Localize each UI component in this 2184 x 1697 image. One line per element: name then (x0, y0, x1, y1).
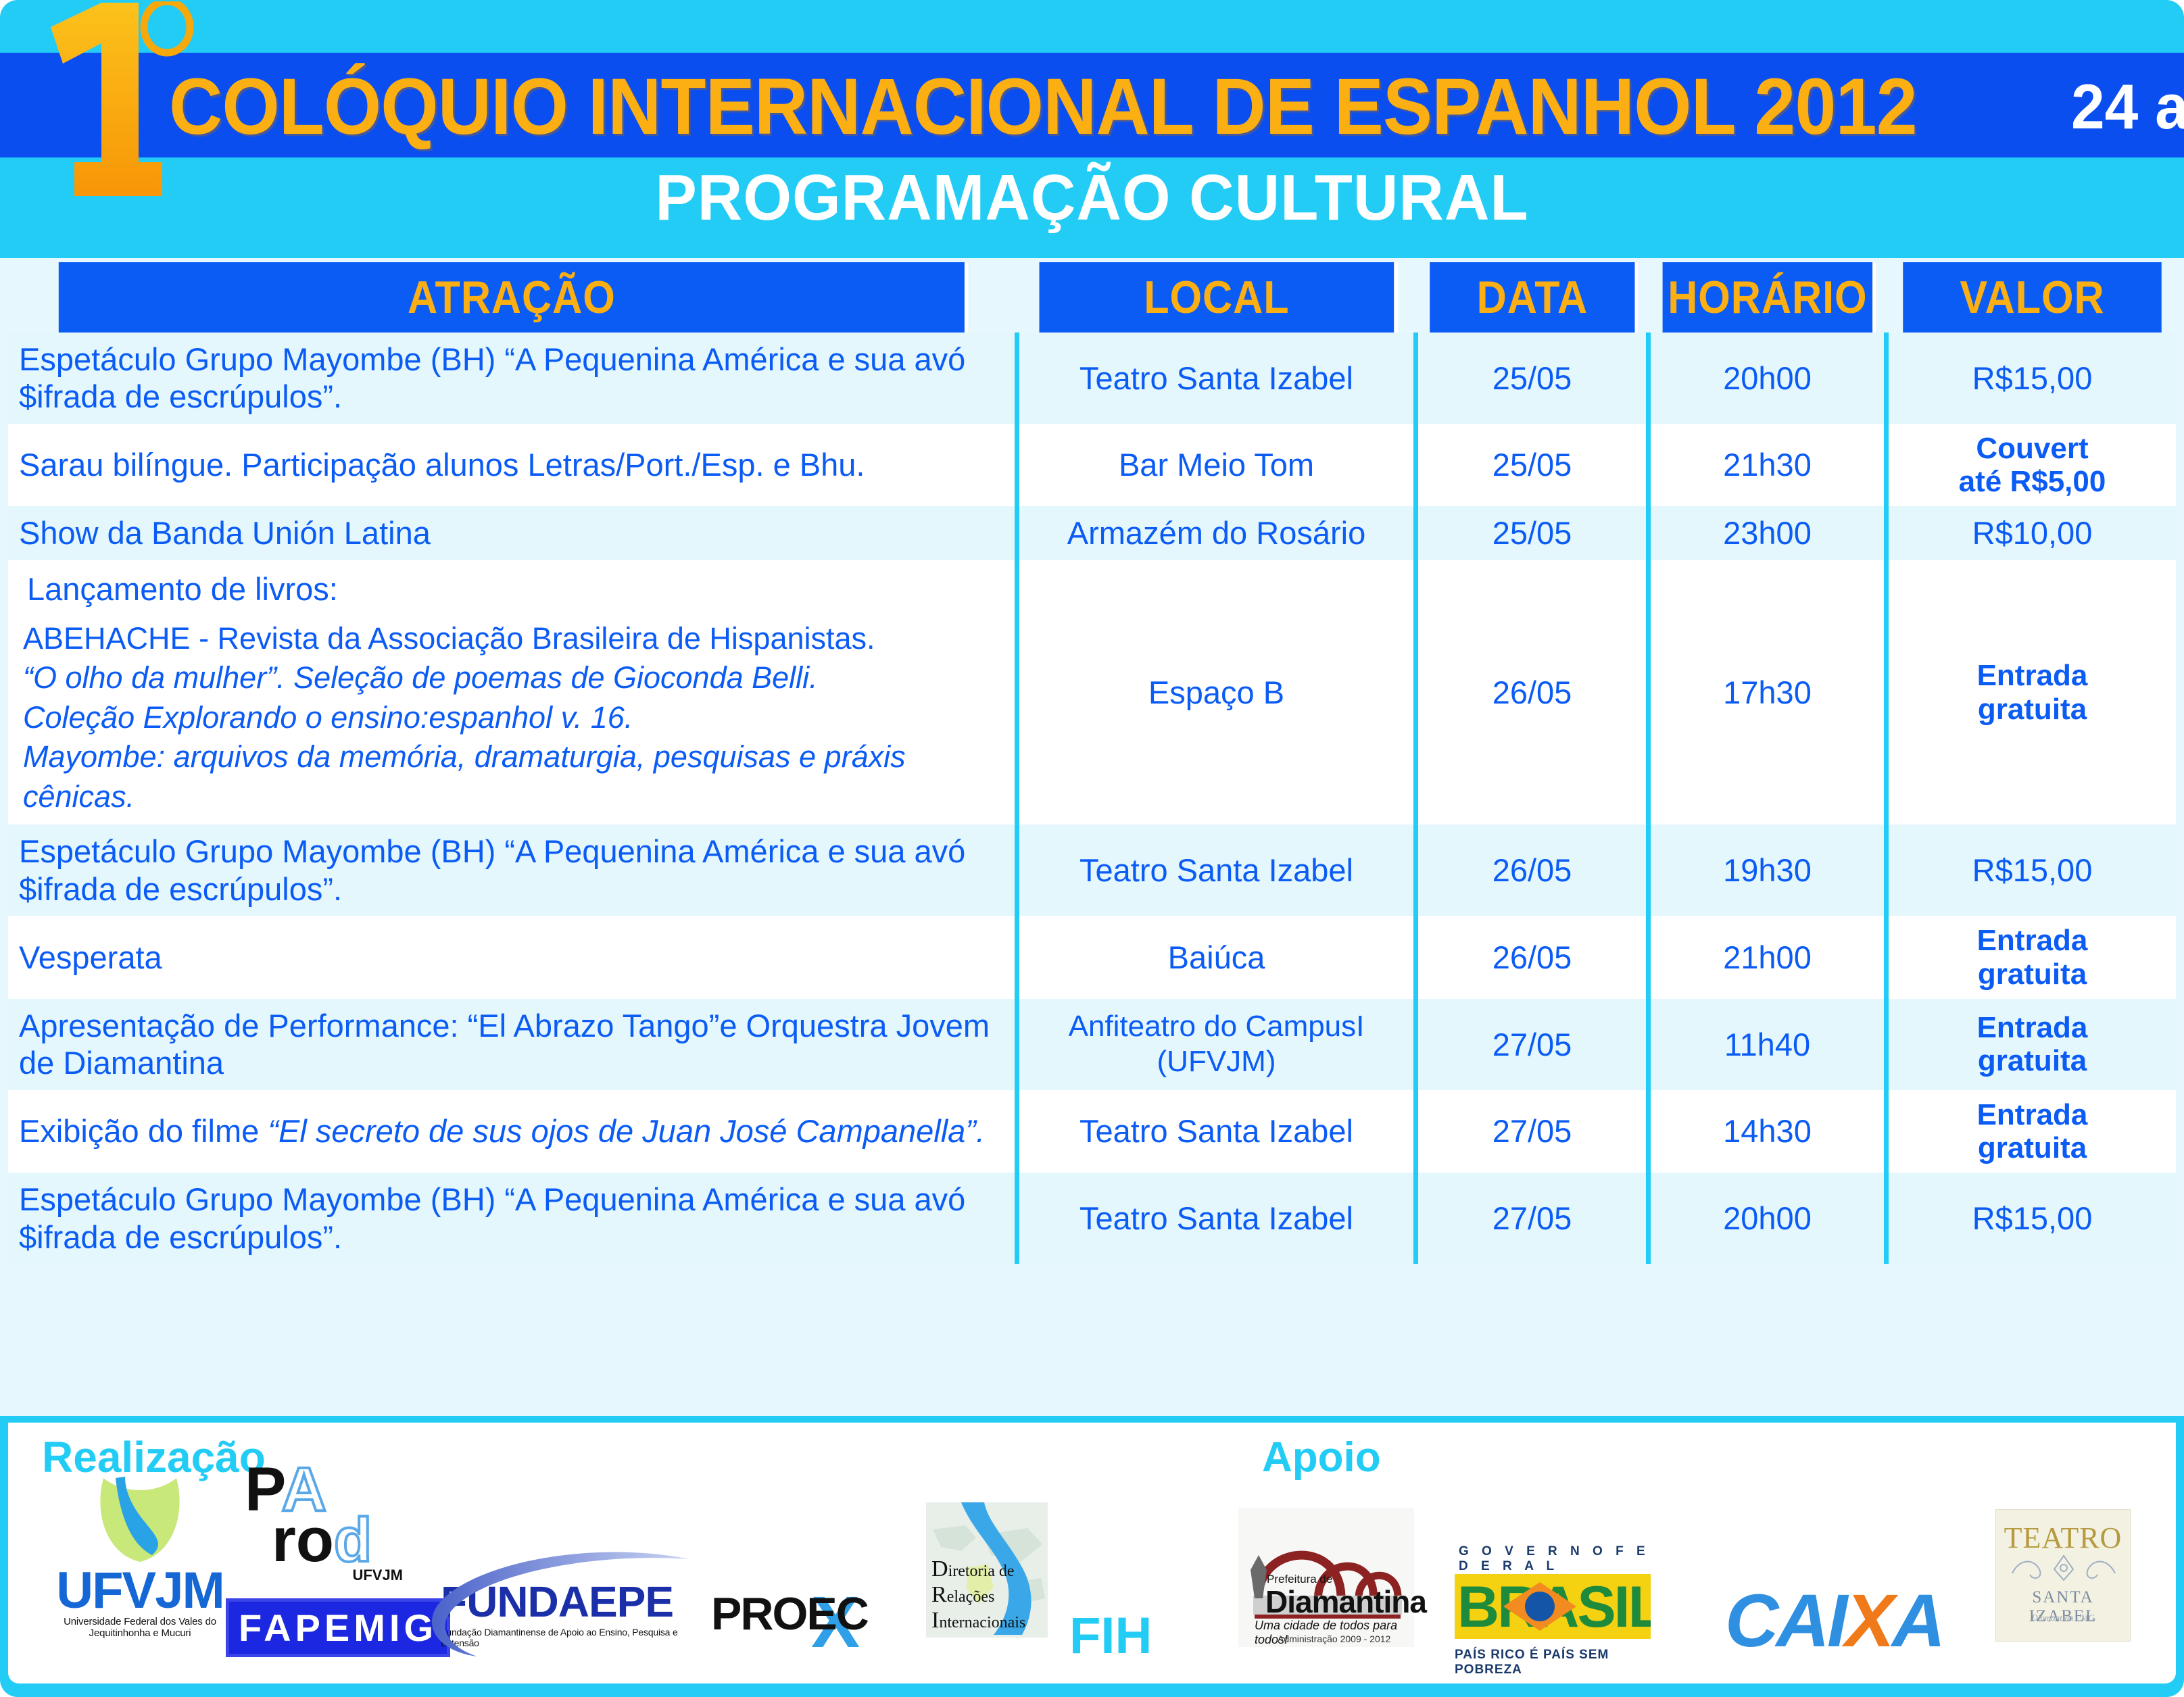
poster-footer: Realização Apoio UFVJM Universidade Fede… (0, 1416, 2184, 1697)
logo-ufvjm: UFVJM Universidade Federal dos Vales do … (49, 1474, 231, 1639)
proad-wordmark-2: rod (272, 1515, 407, 1566)
valor-line-2: gratuita (1898, 958, 2166, 991)
table-header: ATRAÇÃO LOCAL DATA HORÁRIO VALOR (8, 262, 2176, 333)
table-row: Vesperata Baiúca 26/05 21h00 Entrada gra… (8, 916, 2176, 999)
cell-valor: Entrada gratuita (1889, 560, 2176, 825)
cell-local: Teatro Santa Izabel (1019, 1173, 1418, 1264)
cell-data: 27/05 (1418, 1090, 1651, 1173)
schedule-table: ATRAÇÃO LOCAL DATA HORÁRIO VALOR Espetác… (8, 262, 2176, 1264)
page-subtitle: PROGRAMAÇÃO CULTURAL (44, 161, 2141, 235)
cell-data: 25/05 (1418, 333, 1651, 424)
proexc-wordmark: PROE (711, 1588, 836, 1640)
diamantina-admin: Administração 2009 - 2012 (1278, 1633, 1390, 1644)
cell-local: Bar Meio Tom (1019, 424, 1418, 507)
table-row: Espetáculo Grupo Mayombe (BH) “A Pequeni… (8, 333, 2176, 424)
ufvjm-wordmark: UFVJM (49, 1567, 231, 1615)
cell-data: 26/05 (1418, 560, 1651, 825)
ordinal-number-one-icon (37, 1, 226, 204)
poster-header: COLÓQUIO INTERNACIONAL DE ESPANHOL 2012 … (0, 0, 2184, 258)
cell-valor: R$15,00 (1889, 825, 2176, 916)
column-header-local: LOCAL (1040, 262, 1399, 333)
cell-local: Teatro Santa Izabel (1019, 1090, 1418, 1173)
table-header-row: ATRAÇÃO LOCAL DATA HORÁRIO VALOR (8, 262, 2176, 333)
book-launch-heading: Lançamento de livros: (19, 568, 1005, 610)
table-row: Exibição do filme “El secreto de sus ojo… (8, 1090, 2176, 1173)
dri-line-2: Relações (931, 1582, 1025, 1608)
cell-local: Espaço B (1019, 560, 1418, 825)
logo-prefeitura-diamantina: Prefeitura de Diamantina Uma cidade de t… (1238, 1508, 1414, 1647)
cell-atracao: Apresentação de Performance: “El Abrazo … (8, 999, 1019, 1090)
cell-horario: 23h00 (1651, 506, 1889, 560)
local-line-2: (UFVJM) (1029, 1044, 1404, 1079)
table-row: Espetáculo Grupo Mayombe (BH) “A Pequeni… (8, 1173, 2176, 1264)
film-title: “El secreto de sus ojos de Juan José Cam… (268, 1113, 985, 1149)
cell-horario: 21h30 (1651, 424, 1889, 507)
cell-data: 26/05 (1418, 916, 1651, 999)
cell-valor: Couvert até R$5,00 (1889, 424, 2176, 507)
cell-valor: Entrada gratuita (1889, 1090, 2176, 1173)
cell-atracao: Espetáculo Grupo Mayombe (BH) “A Pequeni… (8, 333, 1019, 424)
cell-atracao: Sarau bilíngue. Participação alunos Letr… (8, 424, 1019, 507)
cell-data: 27/05 (1418, 999, 1651, 1090)
footer-logo-area: Realização Apoio UFVJM Universidade Fede… (8, 1423, 2176, 1683)
cell-data: 25/05 (1418, 506, 1651, 560)
cell-horario: 19h30 (1651, 825, 1889, 916)
logo-proexc: PROEC X (711, 1588, 887, 1640)
cell-horario: 17h30 (1651, 560, 1889, 825)
table-row: Sarau bilíngue. Participação alunos Letr… (8, 424, 2176, 507)
local-line-1: Anfiteatro do CampusI (1029, 1009, 1404, 1044)
cell-data: 25/05 (1418, 424, 1651, 507)
page-title: COLÓQUIO INTERNACIONAL DE ESPANHOL 2012 (169, 61, 1917, 153)
cell-atracao: Exibição do filme “El secreto de sus ojo… (8, 1090, 1019, 1173)
poster: COLÓQUIO INTERNACIONAL DE ESPANHOL 2012 … (0, 0, 2184, 1697)
cell-atracao: Show da Banda Unión Latina (8, 506, 1019, 560)
apoio-label: Apoio (1262, 1433, 1381, 1481)
table-row: Apresentação de Performance: “El Abrazo … (8, 999, 2176, 1090)
cell-valor: Entrada gratuita (1889, 999, 2176, 1090)
table-row: Espetáculo Grupo Mayombe (BH) “A Pequeni… (8, 825, 2176, 916)
cell-local: Baiúca (1019, 916, 1418, 999)
diamantina-wordmark: Diamantina (1265, 1583, 1426, 1620)
dri-line-3: Internacionais (931, 1608, 1025, 1633)
book-item: Mayombe: arquivos da memória, dramaturgi… (19, 737, 1005, 816)
caixa-a: A (1892, 1579, 1943, 1663)
cell-local: Anfiteatro do CampusI (UFVJM) (1019, 999, 1418, 1090)
valor-line-2: até R$5,00 (1898, 465, 2166, 498)
cell-data: 26/05 (1418, 825, 1651, 916)
logo-fundaepe: FUNDAEPE Fundação Diamantinense de Apoio… (441, 1577, 684, 1648)
table-body: Espetáculo Grupo Mayombe (BH) “A Pequeni… (8, 333, 2176, 1264)
ufvjm-tagline: Universidade Federal dos Vales do Jequit… (49, 1616, 231, 1639)
logo-relacoes-internacionais: Diretoria de Relações Internacionais (926, 1502, 1048, 1638)
cell-atracao: Espetáculo Grupo Mayombe (BH) “A Pequeni… (8, 1173, 1019, 1264)
cell-horario: 20h00 (1651, 333, 1889, 424)
valor-line-2: gratuita (1898, 693, 2166, 726)
event-dates: 24 a 27 de maio (2071, 70, 2184, 143)
cell-local: Armazém do Rosário (1019, 506, 1418, 560)
book-item: Coleção Explorando o ensino:espanhol v. … (19, 698, 1005, 738)
logo-caixa: CAIXA (1725, 1578, 1943, 1664)
cell-valor: R$15,00 (1889, 333, 2176, 424)
brasil-wordmark: BRASIL (1455, 1574, 1651, 1648)
valor-line-1: Entrada (1898, 659, 2166, 692)
film-label: Exibição do filme (19, 1113, 268, 1149)
brasil-governo-label: G O V E R N O F E D E R A L (1459, 1544, 1651, 1574)
teatro-ornament-icon (1996, 1546, 2131, 1587)
cell-horario: 14h30 (1651, 1090, 1889, 1173)
cell-horario: 21h00 (1651, 916, 1889, 999)
logo-governo-brasil: G O V E R N O F E D E R A L BRASIL PAÍS … (1455, 1544, 1651, 1677)
logo-proad: PA rod UFVJM (245, 1465, 407, 1584)
valor-line-1: Couvert (1898, 432, 2166, 465)
table-row: Show da Banda Unión Latina Armazém do Ro… (8, 506, 2176, 560)
cell-horario: 20h00 (1651, 1173, 1889, 1264)
logo-fih: FIH (1069, 1606, 1152, 1665)
valor-line-1: Entrada (1898, 924, 2166, 957)
cell-atracao: Espetáculo Grupo Mayombe (BH) “A Pequeni… (8, 825, 1019, 916)
valor-line-2: gratuita (1898, 1131, 2166, 1164)
proad-d: d (334, 1506, 372, 1575)
valor-line-1: Entrada (1898, 1098, 2166, 1131)
proad-ro: ro (272, 1506, 334, 1575)
column-header-horario: HORÁRIO (1663, 262, 1877, 333)
dri-line-1: Diretoria de (931, 1556, 1025, 1582)
ufvjm-leaf-icon (86, 1474, 194, 1566)
brasil-slogan: PAÍS RICO É PAÍS SEM POBREZA (1455, 1648, 1651, 1677)
column-header-atracao: ATRAÇÃO (59, 262, 969, 333)
cell-valor: R$15,00 (1889, 1173, 2176, 1264)
cell-local: Teatro Santa Izabel (1019, 825, 1418, 916)
cell-valor: R$10,00 (1889, 506, 2176, 560)
caixa-x-icon: X (1845, 1579, 1891, 1663)
fundaepe-swoosh-icon (419, 1546, 703, 1661)
proexc-c: C (836, 1588, 868, 1640)
book-item: “O olho da mulher”. Seleção de poemas de… (19, 658, 1005, 698)
caixa-cai: CAI (1725, 1579, 1845, 1663)
cell-data: 27/05 (1418, 1173, 1651, 1264)
header-title-row: COLÓQUIO INTERNACIONAL DE ESPANHOL 2012 … (169, 59, 2184, 154)
cell-local: Teatro Santa Izabel (1019, 333, 1418, 424)
table-row: Lançamento de livros: ABEHACHE - Revista… (8, 560, 2176, 825)
cell-atracao: Vesperata (8, 916, 1019, 999)
valor-line-2: gratuita (1898, 1044, 2166, 1077)
teatro-city: Diamantina - MG (1996, 1613, 2130, 1623)
brasil-flag-icon: BRASIL (1455, 1574, 1651, 1639)
book-item: ABEHACHE - Revista da Associação Brasile… (19, 619, 1005, 659)
cell-horario: 11h40 (1651, 999, 1889, 1090)
cell-atracao: Lançamento de livros: ABEHACHE - Revista… (8, 560, 1019, 825)
column-header-valor: VALOR (1903, 262, 2162, 333)
column-header-data: DATA (1430, 262, 1639, 333)
logo-fapemig: FAPEMIG (226, 1598, 450, 1657)
schedule-table-container: ATRAÇÃO LOCAL DATA HORÁRIO VALOR Espetác… (0, 258, 2184, 1416)
logo-teatro-santa-izabel: TEATRO SANTA IZABEL Diamantina - MG (1995, 1509, 2131, 1642)
valor-line-1: Entrada (1898, 1011, 2166, 1044)
fapemig-wordmark: FAPEMIG (239, 1606, 437, 1649)
cell-valor: Entrada gratuita (1889, 916, 2176, 999)
